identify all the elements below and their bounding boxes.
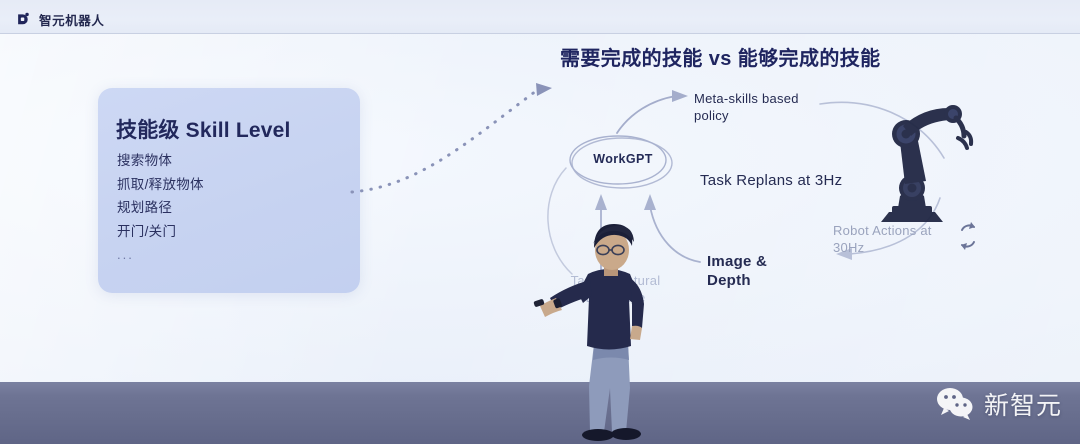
wechat-icon [935, 387, 975, 421]
watermark: 新智元 [935, 386, 1062, 422]
skill-item: 抓取/释放物体 [117, 178, 204, 192]
slide-headline: 需要完成的技能 vs 能够完成的技能 [560, 42, 881, 71]
brand-name: 智元机器人 [39, 10, 105, 29]
skill-item: 规划路径 [117, 201, 204, 215]
brand-logo: 智元机器人 [14, 10, 105, 29]
presentation-screenshot: 智元机器人 技能级 Skill Level 搜索物体 抓取/释放物体 规划路径 … [0, 0, 1080, 444]
zhiyuan-logo-icon [14, 11, 32, 29]
skill-card-title: 技能级 Skill Level [116, 114, 291, 144]
wall-top-band [0, 0, 1080, 34]
speaker-person [532, 222, 682, 444]
skill-item: 开门/关门 [117, 225, 204, 239]
skill-level-card: 技能级 Skill Level 搜索物体 抓取/释放物体 规划路径 开门/关门 … [98, 88, 360, 293]
label-meta-skills-policy: Meta-skills based policy [694, 90, 824, 124]
label-image-depth: Image & Depth [707, 252, 797, 290]
skill-item-ellipsis: ... [117, 248, 204, 261]
watermark-text: 新智元 [984, 386, 1062, 422]
skill-card-list: 搜索物体 抓取/释放物体 规划路径 开门/关门 ... [117, 154, 204, 261]
skill-item: 搜索物体 [117, 154, 204, 168]
label-robot-actions: Robot Actions at 30Hz [833, 222, 953, 256]
label-workgpt-node: WorkGPT [575, 152, 671, 166]
label-task-replans: Task Replans at 3Hz [700, 172, 842, 189]
